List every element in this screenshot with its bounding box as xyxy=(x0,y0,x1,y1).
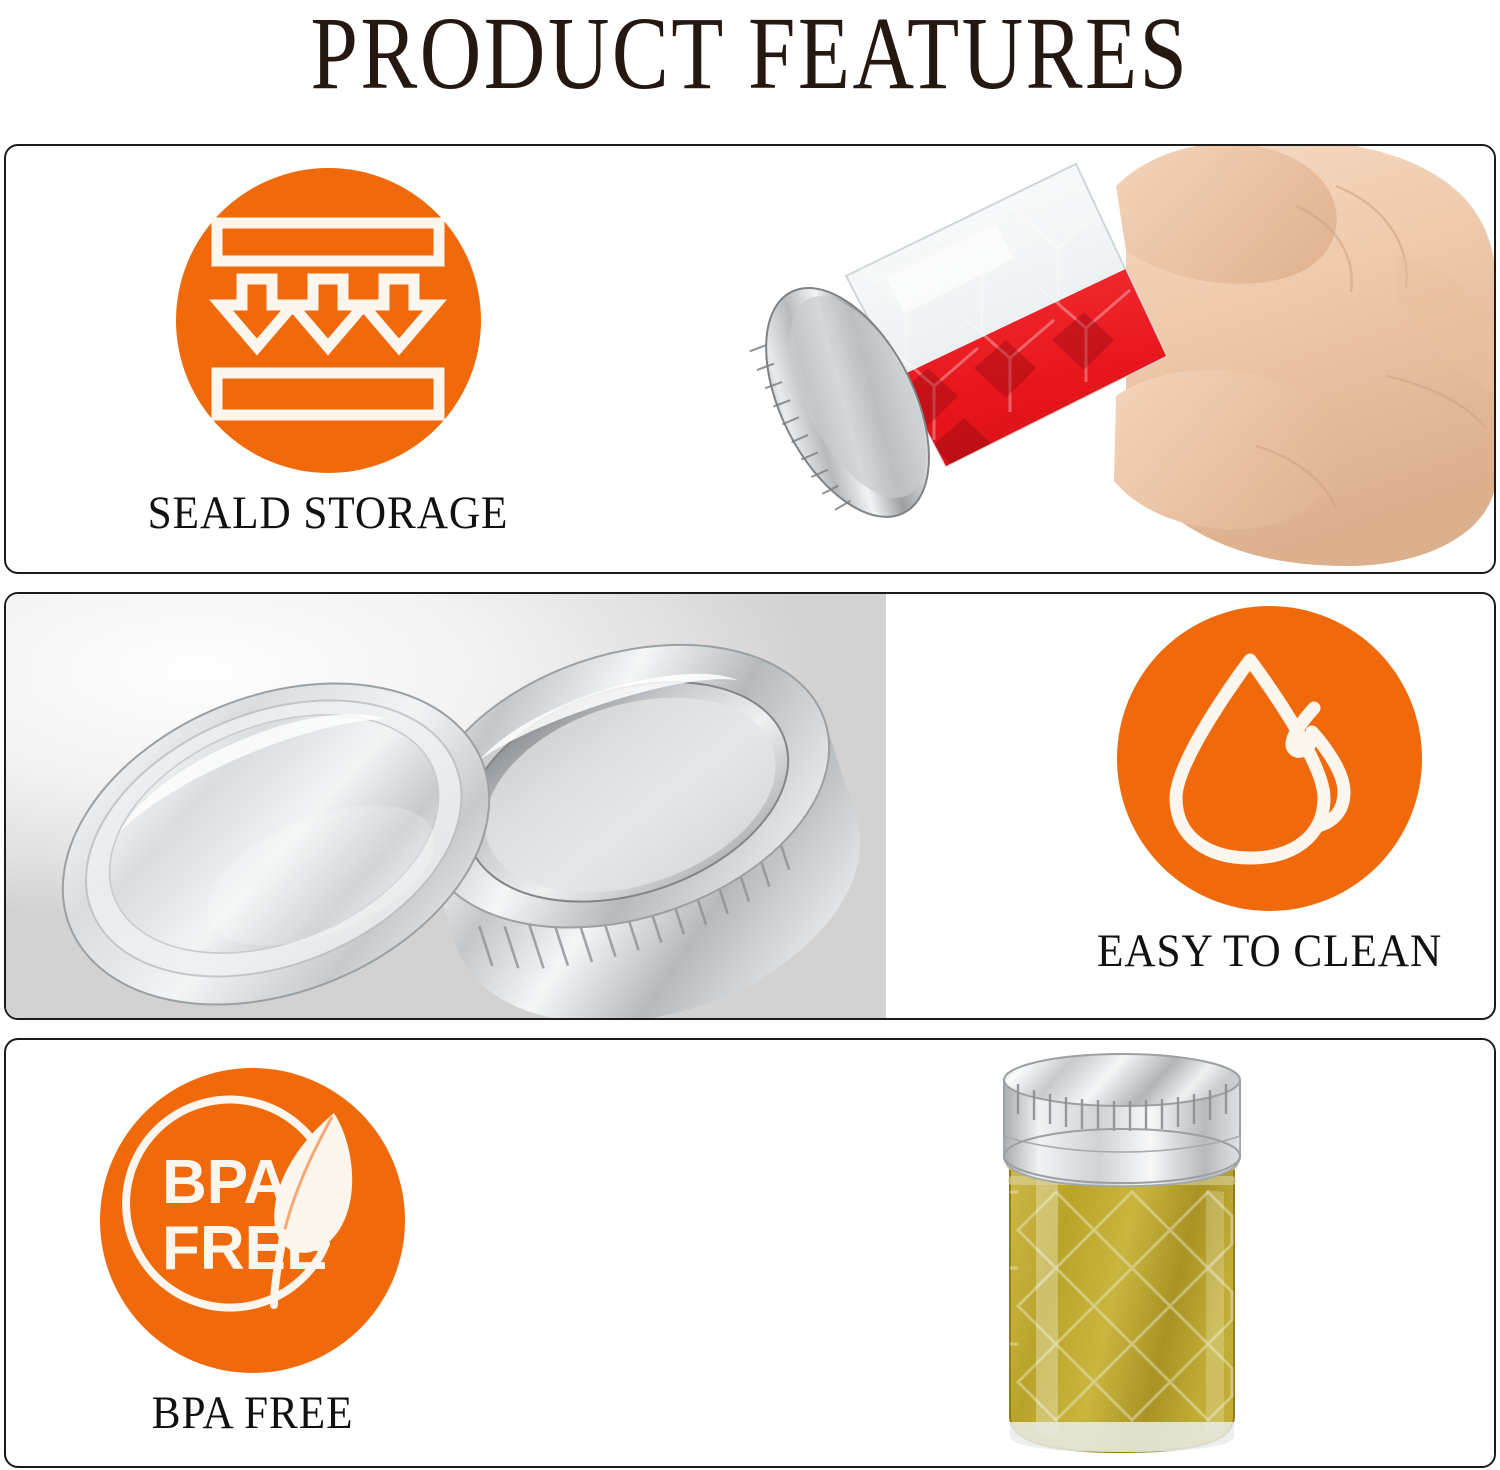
feature-bpa-free: BPA FREE BPA FREE xyxy=(100,1068,405,1439)
photo-lid-and-screw-band xyxy=(6,594,886,1018)
feature-panel-bpa-free: BPA FREE BPA FREE xyxy=(4,1038,1496,1468)
photo-jar-with-yellow-contents xyxy=(886,1040,1496,1466)
page-title: PRODUCT FEATURES xyxy=(135,0,1365,114)
feature-panel-easy-to-clean: EASY TO CLEAN xyxy=(4,592,1496,1020)
feature-panel-sealed-storage: SEALD STORAGE xyxy=(4,144,1496,574)
water-drop-icon xyxy=(1117,606,1422,911)
bpa-free-icon: BPA FREE xyxy=(100,1068,405,1373)
feature-easy-to-clean: EASY TO CLEAN xyxy=(1082,606,1457,977)
feature-caption-sealed-storage: SEALD STORAGE xyxy=(148,487,509,539)
feature-caption-bpa-free: BPA FREE xyxy=(152,1387,354,1439)
seal-press-icon xyxy=(176,168,481,473)
bpa-badge-line-1: BPA xyxy=(162,1148,288,1217)
bpa-badge-line-2: FREE xyxy=(162,1214,327,1283)
feature-sealed-storage: SEALD STORAGE xyxy=(132,168,524,539)
photo-hand-holding-sealed-jar xyxy=(696,146,1496,572)
feature-caption-easy-to-clean: EASY TO CLEAN xyxy=(1097,925,1442,977)
